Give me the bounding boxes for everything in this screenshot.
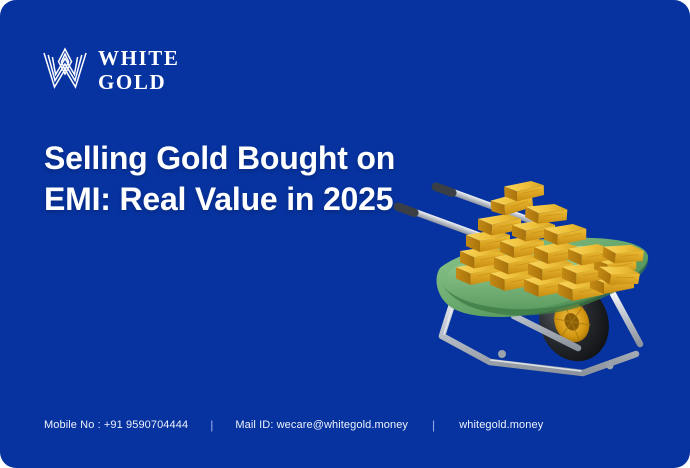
white-gold-w-monogram-icon: [42, 44, 88, 96]
footer-separator-2: |: [432, 418, 435, 432]
brand-wordmark: WHITE GOLD: [98, 48, 180, 93]
headline-line-1: Selling Gold Bought on: [44, 138, 464, 179]
brand-logo[interactable]: WHITE GOLD: [42, 44, 180, 96]
footer-mail[interactable]: Mail ID: wecare@whitegold.money: [235, 419, 408, 431]
promotional-banner: WHITE GOLD Selling Gold Bought on EMI: R…: [0, 0, 690, 468]
brand-wordmark-line-2: GOLD: [98, 72, 180, 93]
footer-separator-1: |: [210, 418, 213, 432]
contact-footer: Mobile No : +91 9590704444 | Mail ID: we…: [44, 418, 543, 432]
brand-wordmark-line-1: WHITE: [98, 48, 180, 69]
wheelbarrow-gold-illustration: [378, 176, 678, 381]
footer-website[interactable]: whitegold.money: [459, 419, 543, 431]
footer-mobile[interactable]: Mobile No : +91 9590704444: [44, 419, 188, 431]
